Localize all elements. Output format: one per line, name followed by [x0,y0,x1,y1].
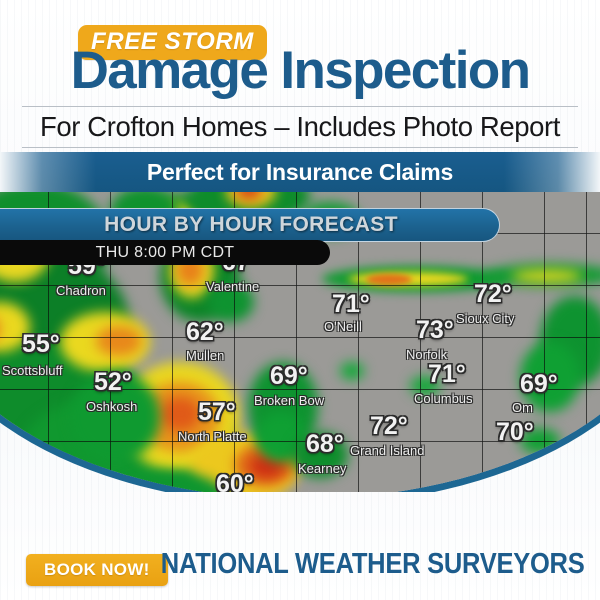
map-city-label: Oshkosh [86,400,137,413]
insurance-claims-band: Perfect for Insurance Claims [0,152,600,192]
map-city-label: Broken Bow [254,394,324,407]
insurance-claims-label: Perfect for Insurance Claims [0,152,600,192]
map-city-label: Om [512,401,533,414]
map-temperature-value: 60° [216,472,254,492]
map-temperature-value: 72° [474,282,512,307]
map-temperature-value: 52° [94,370,132,395]
brand-name: NATIONAL WEATHER SURVEYORS [160,550,584,579]
forecast-timestamp-bar: THU 8:00 PM CDT [0,240,330,265]
map-temperature-value: 62° [186,320,224,345]
map-city-label: Kearney [298,462,346,475]
map-temperature-value: 71° [428,362,466,387]
map-city-label: Sioux City [456,312,515,325]
map-city-label: North Platte [178,430,247,443]
divider-bottom [22,147,578,148]
page-title: Damage Inspection [0,44,600,97]
map-temperature-value: 73° [416,318,454,343]
map-city-label: Chadron [56,284,106,297]
map-city-label: O'Neill [324,320,362,333]
map-temperature-value: 55° [22,332,60,357]
header-section: FREE STORM Damage Inspection For Crofton… [0,0,600,192]
map-temperature-value: 69° [270,364,308,389]
map-temperature-value: 72° [370,414,408,439]
map-temperature-value: 69° [520,372,558,397]
map-temperature-value: 71° [332,292,370,317]
map-temperature-value: 68° [306,432,344,457]
ad-creative: FREE STORM Damage Inspection For Crofton… [0,0,600,600]
book-now-button[interactable]: BOOK NOW! [26,554,168,586]
subtitle: For Crofton Homes – Includes Photo Repor… [0,110,600,144]
map-city-label: Scottsbluff [2,364,62,377]
footer-section: BOOK NOW! NATIONAL WEATHER SURVEYORS [0,492,600,600]
map-city-label: Grand Island [350,444,424,457]
weather-map-section: 59°Chadron67°Valentine71°O'Neill72°Sioux… [0,192,600,492]
map-city-label: Columbus [414,392,473,405]
hour-by-hour-forecast-bar: HOUR BY HOUR FORECAST [0,208,500,242]
hour-by-hour-forecast-label: HOUR BY HOUR FORECAST [0,209,501,240]
book-now-label: BOOK NOW! [44,561,150,578]
map-city-label: Valentine [206,280,259,293]
map-temperature-value: 70° [496,420,534,445]
forecast-timestamp-label: THU 8:00 PM CDT [0,240,330,265]
map-city-label: Mullen [186,349,224,362]
map-temperature-value: 57° [198,400,236,425]
divider-top [22,106,578,107]
